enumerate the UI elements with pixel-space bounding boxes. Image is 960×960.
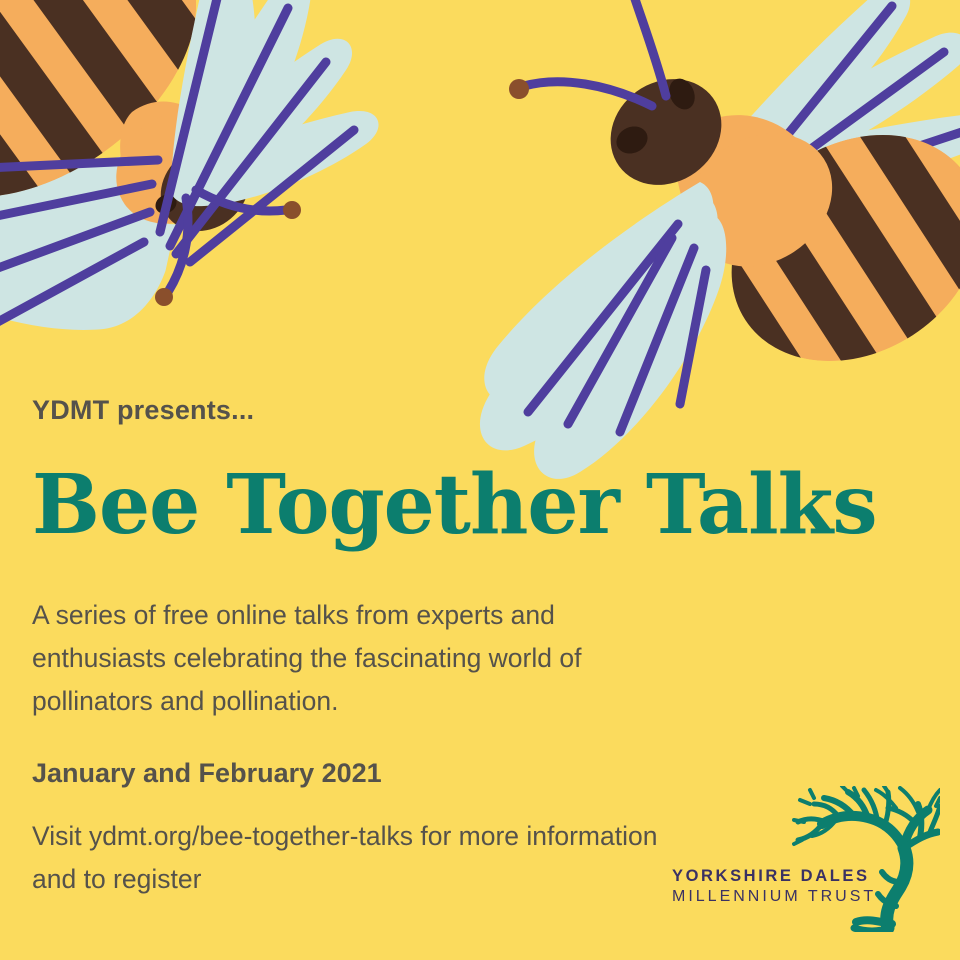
logo-line-millennium-trust: MILLENNIUM TRUST <box>672 887 890 907</box>
bee-abdomen-2 <box>676 54 960 425</box>
logo-line-yorkshire-dales: YORKSHIRE DALES <box>672 866 890 887</box>
description-text: A series of free online talks from exper… <box>32 548 682 723</box>
bee-icon-top-left <box>0 0 379 381</box>
bee-eye <box>152 191 180 218</box>
ydmt-logo[interactable]: YORKSHIRE DALES MILLENNIUM TRUST <box>672 786 940 932</box>
bee-antenna-2 <box>524 0 666 106</box>
bee-abdomen <box>0 0 247 271</box>
bee-antenna <box>168 190 286 292</box>
bee-eye <box>612 122 652 159</box>
bee-wing-upper-right <box>160 0 379 262</box>
poster-text-block: YDMT presents... Bee Together Talks A se… <box>32 396 732 901</box>
bee-wing-lower-left <box>0 104 187 381</box>
bee-wing-upper-right-2 <box>726 0 960 220</box>
tree-icon <box>792 786 940 932</box>
bee-wing-veins <box>0 160 158 336</box>
kicker-text: YDMT presents... <box>32 396 732 426</box>
visit-url-text[interactable]: Visit ydmt.org/bee-together-talks for mo… <box>32 789 682 901</box>
bee-eye <box>665 75 700 114</box>
logo-wordmark: YORKSHIRE DALES MILLENNIUM TRUST <box>672 866 890 908</box>
page-title: Bee Together Talks <box>32 426 718 548</box>
poster-canvas: YDMT presents... Bee Together Talks A se… <box>0 0 960 960</box>
bee-antenna-tip <box>283 201 301 219</box>
bee-antenna-tip <box>155 288 173 306</box>
bee-eye <box>195 149 224 181</box>
dates-text: January and February 2021 <box>32 723 732 789</box>
bee-antenna-tip <box>509 79 529 99</box>
